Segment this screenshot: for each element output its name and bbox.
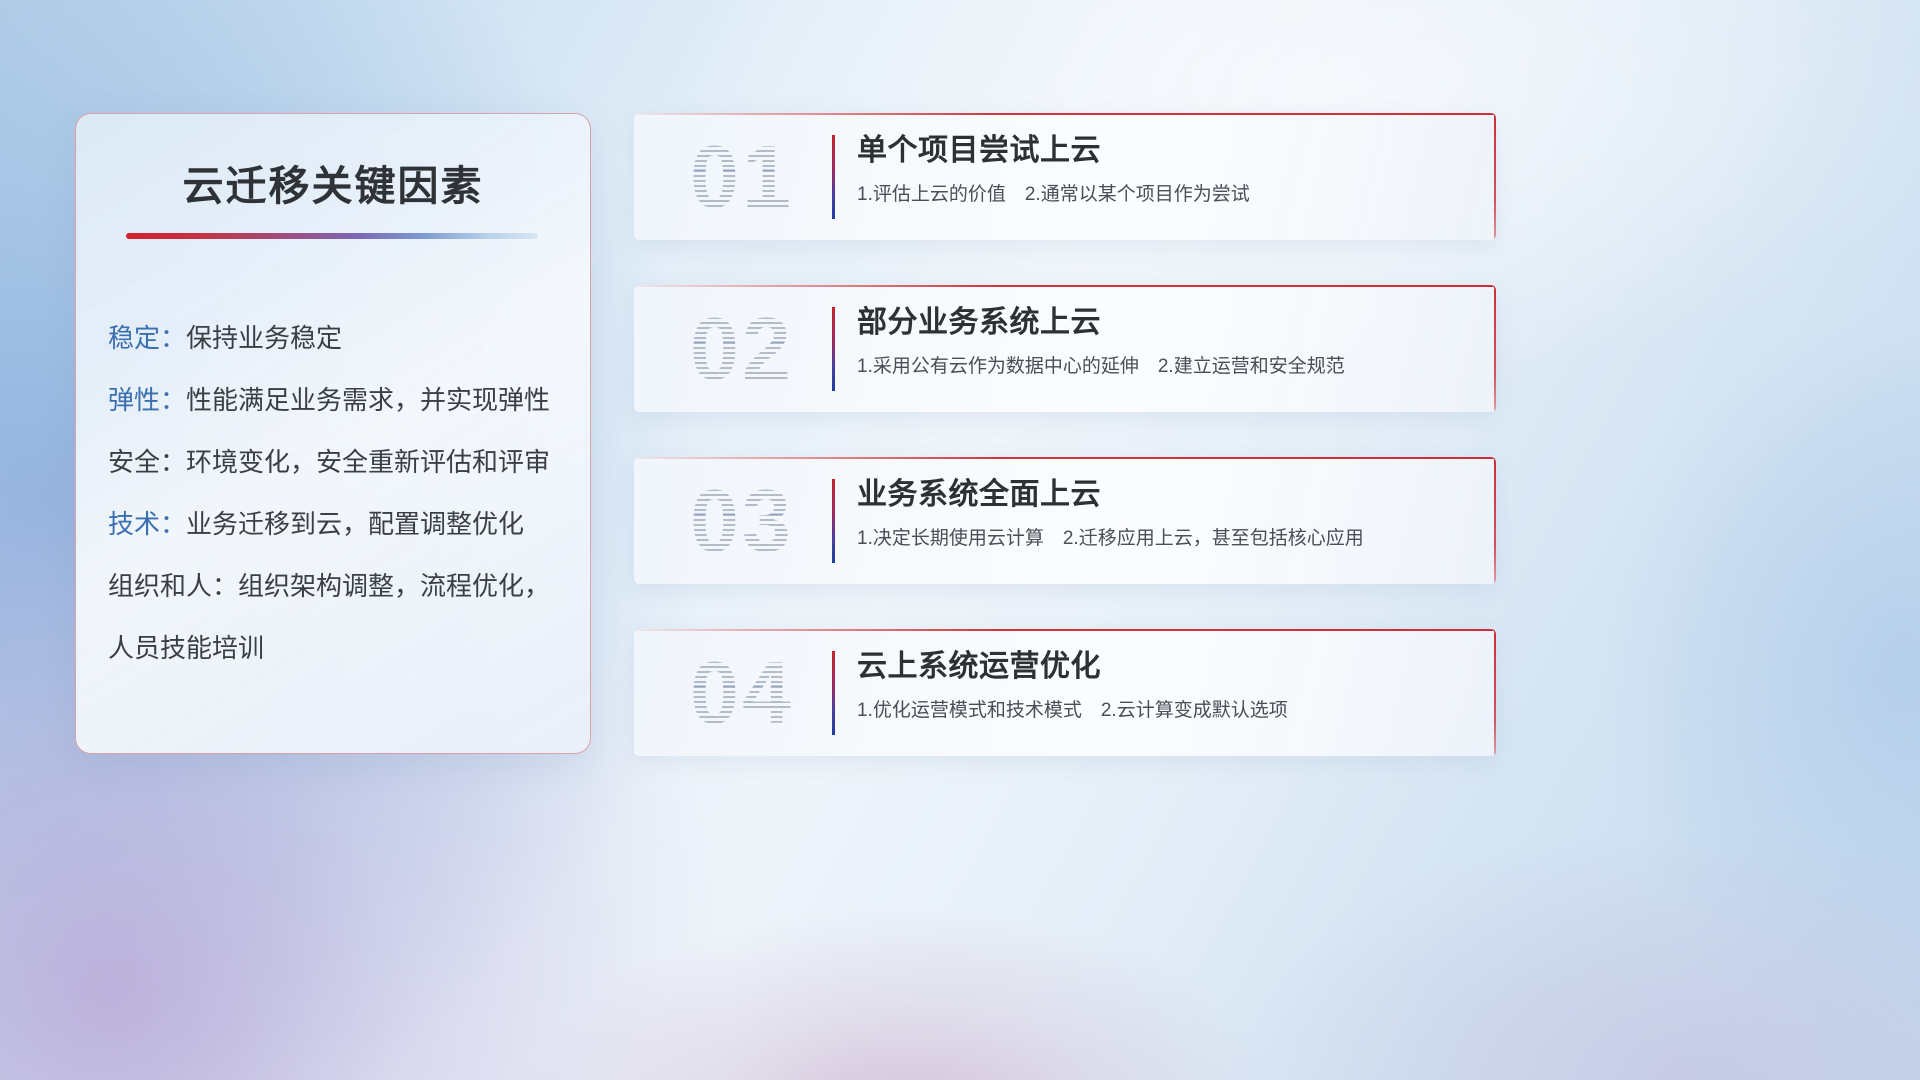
key-factor-label: 安全： xyxy=(108,447,186,477)
key-factors-list: 稳定：保持业务稳定弹性：性能满足业务需求，并实现弹性安全：环境变化，安全重新评估… xyxy=(108,307,574,679)
title-underline-gradient xyxy=(126,233,538,239)
key-factor-label: 技术： xyxy=(108,509,186,539)
stage-number-watermark: 01 xyxy=(662,125,822,229)
stage-card[interactable]: 0303业务系统全面上云1.决定长期使用云计算 2.迁移应用上云，甚至包括核心应… xyxy=(634,457,1496,584)
stage-card-body: 部分业务系统上云1.采用公有云作为数据中心的延伸 2.建立运营和安全规范 xyxy=(857,301,1476,381)
stage-card[interactable]: 0101单个项目尝试上云1.评估上云的价值 2.通常以某个项目作为尝试 xyxy=(634,113,1496,240)
key-factor-text: 业务迁移到云，配置调整优化 xyxy=(186,509,524,539)
stage-cards-list: 0101单个项目尝试上云1.评估上云的价值 2.通常以某个项目作为尝试0202部… xyxy=(634,113,1496,801)
key-factor-row: 组织和人：组织架构调整，流程优化， xyxy=(108,555,574,617)
stage-card-title: 云上系统运营优化 xyxy=(857,645,1476,689)
stage-card-subtitle: 1.评估上云的价值 2.通常以某个项目作为尝试 xyxy=(857,181,1476,209)
stage-divider-bar xyxy=(832,651,835,735)
stage-card[interactable]: 0404云上系统运营优化1.优化运营模式和技术模式 2.云计算变成默认选项 xyxy=(634,629,1496,756)
stage-card-body: 业务系统全面上云1.决定长期使用云计算 2.迁移应用上云，甚至包括核心应用 xyxy=(857,473,1476,553)
stage-number-watermark: 03 xyxy=(662,469,822,573)
key-factor-label: 弹性： xyxy=(108,385,186,415)
stage-divider-bar xyxy=(832,479,835,563)
stage-card-subtitle: 1.优化运营模式和技术模式 2.云计算变成默认选项 xyxy=(857,697,1476,725)
stage-card-title: 业务系统全面上云 xyxy=(857,473,1476,517)
key-factor-label: 组织和人： xyxy=(108,571,238,601)
stage-card-body: 单个项目尝试上云1.评估上云的价值 2.通常以某个项目作为尝试 xyxy=(857,129,1476,209)
key-factor-row: 技术：业务迁移到云，配置调整优化 xyxy=(108,493,574,555)
stage-card-title: 单个项目尝试上云 xyxy=(857,129,1476,173)
key-factor-row: 安全：环境变化，安全重新评估和评审 xyxy=(108,431,574,493)
slide-canvas: 云迁移关键因素 稳定：保持业务稳定弹性：性能满足业务需求，并实现弹性安全：环境变… xyxy=(0,0,1920,1080)
key-factor-text: 环境变化，安全重新评估和评审 xyxy=(186,447,550,477)
key-factor-row: 稳定：保持业务稳定 xyxy=(108,307,574,369)
panel-title: 云迁移关键因素 xyxy=(76,152,590,212)
key-factor-text: 组织架构调整，流程优化， xyxy=(238,571,550,601)
stage-card-subtitle: 1.采用公有云作为数据中心的延伸 2.建立运营和安全规范 xyxy=(857,353,1476,381)
stage-card-title: 部分业务系统上云 xyxy=(857,301,1476,345)
key-factor-label: 稳定： xyxy=(108,323,186,353)
key-factor-row: 弹性：性能满足业务需求，并实现弹性 xyxy=(108,369,574,431)
stage-card-subtitle: 1.决定长期使用云计算 2.迁移应用上云，甚至包括核心应用 xyxy=(857,525,1476,553)
stage-number-watermark: 04 xyxy=(662,641,822,745)
key-factor-text: 性能满足业务需求，并实现弹性 xyxy=(186,385,550,415)
stage-divider-bar xyxy=(832,135,835,219)
key-factors-panel: 云迁移关键因素 稳定：保持业务稳定弹性：性能满足业务需求，并实现弹性安全：环境变… xyxy=(75,113,591,754)
key-factor-text: 保持业务稳定 xyxy=(186,323,342,353)
stage-divider-bar xyxy=(832,307,835,391)
stage-number-watermark: 02 xyxy=(662,297,822,401)
key-factor-row: 人员技能培训 xyxy=(108,617,574,679)
stage-card[interactable]: 0202部分业务系统上云1.采用公有云作为数据中心的延伸 2.建立运营和安全规范 xyxy=(634,285,1496,412)
key-factor-text: 人员技能培训 xyxy=(108,633,264,663)
stage-card-body: 云上系统运营优化1.优化运营模式和技术模式 2.云计算变成默认选项 xyxy=(857,645,1476,725)
